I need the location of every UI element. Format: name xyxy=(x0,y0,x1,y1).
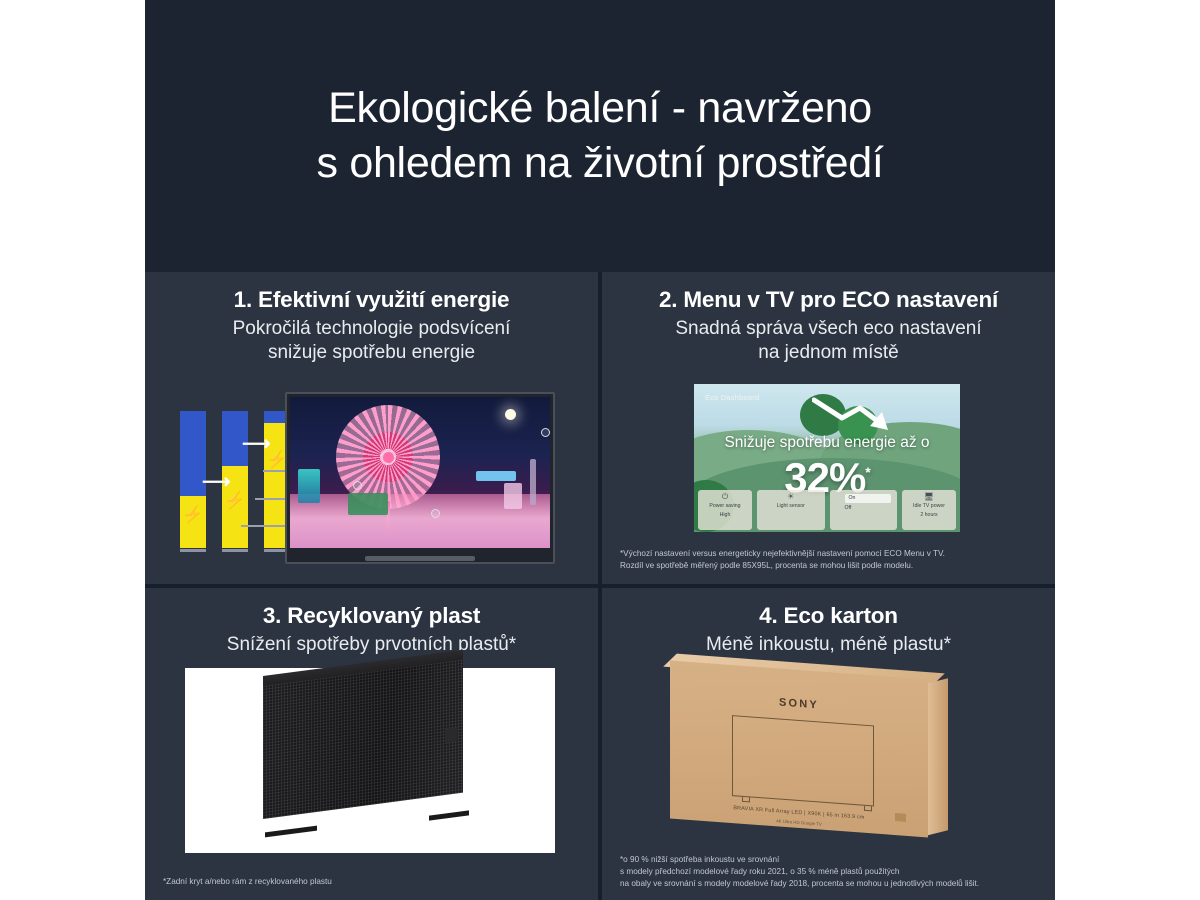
footnote-line1: *Zadní kryt a/nebo rám z recyklovaného p… xyxy=(163,876,584,888)
feature-footnote: *o 90 % nižší spotřeba inkoustu ve srovn… xyxy=(620,854,1041,890)
carton-tv-leg-right xyxy=(864,806,872,812)
tv-rear-photo xyxy=(185,668,555,853)
radio-group[interactable]: On Off xyxy=(832,494,896,513)
arrow-right-icon: ⟶ xyxy=(202,472,231,492)
tv-rear-body xyxy=(263,676,473,836)
arrow-right-icon: ⟶ xyxy=(242,434,271,454)
eco-card-label: Light sensor xyxy=(759,502,823,511)
feature-subtitle: Pokročilá technologie podsvícení snižuje… xyxy=(161,317,582,366)
page-title: Ekologické balení - navrženo s ohledem n… xyxy=(169,81,1031,191)
feature-subtitle-line2: na jednom místě xyxy=(758,342,898,363)
carton-side-face xyxy=(926,678,948,835)
feature-title: 4. Eco karton xyxy=(618,602,1039,629)
energy-illustration: ⚡ ⚡ xyxy=(145,392,598,572)
footnote-line2: Rozdíl ve spotřebě měřený podle 85X95L, … xyxy=(620,560,1041,572)
eco-settings-row: ⏻ Power saving High ☀ Light sensor On Of… xyxy=(698,488,956,530)
feature-subtitle-line1: Méně inkoustu, méně plastu* xyxy=(706,634,951,655)
eco-card-label: Power saving xyxy=(700,502,750,511)
feature-grid: 1. Efektivní využití energie Pokročilá t… xyxy=(145,272,1055,900)
feature-subtitle-line1: Snadná správa všech eco nastavení xyxy=(675,318,981,339)
radio-option-on[interactable]: On xyxy=(845,494,892,503)
feature-subtitle: Snížení spotřeby prvotních plastů* xyxy=(161,633,582,657)
lightning-bolt-icon: ⚡ xyxy=(224,492,245,509)
eco-dashboard-label: Eco Dashboard xyxy=(705,393,759,402)
eco-dashboard-illustration: Eco Dashboard Snižuje spotřebu energie a… xyxy=(694,384,960,532)
eco-card-value: High xyxy=(700,511,750,520)
feature-hotspot-icon[interactable] xyxy=(353,481,362,490)
footnote-line3: na obaly ve srovnání s modely modelové ř… xyxy=(620,878,1041,890)
feature-hotspot-icon[interactable] xyxy=(541,428,550,437)
feature-subtitle: Snadná správa všech eco nastavení na jed… xyxy=(618,317,1039,366)
tv-stand-leg-right xyxy=(429,810,469,820)
eco-card-label: Idle TV power xyxy=(904,502,954,511)
moon-icon xyxy=(505,409,516,420)
power-icon: ⏻ xyxy=(700,493,750,502)
feature-subtitle-line1: Snížení spotřeby prvotních plastů* xyxy=(227,634,516,655)
tv-rear-port xyxy=(445,727,457,743)
infographic-page: Ekologické balení - navrženo s ohledem n… xyxy=(0,0,1200,900)
bar-base xyxy=(222,549,248,552)
lightning-bolt-icon: ⚡ xyxy=(182,506,203,523)
city-light xyxy=(476,471,516,481)
feature-card-recycled-plastic: 3. Recyklovaný plast Snížení spotřeby pr… xyxy=(145,588,598,900)
feature-card-eco-menu: 2. Menu v TV pro ECO nastavení Snadná sp… xyxy=(602,272,1055,584)
tv-preview xyxy=(285,392,555,564)
carton-illustration: SONY BRAVIA XR Full Array LED | X90K | 6… xyxy=(660,662,1000,842)
city-light xyxy=(348,493,388,515)
eco-value-asterisk: * xyxy=(865,464,869,480)
display-icon: 🖥 xyxy=(904,493,954,502)
eco-card-options[interactable]: On Off xyxy=(830,490,898,530)
feature-hotspot-icon[interactable] xyxy=(431,509,440,518)
energy-bar-chart: ⚡ ⚡ xyxy=(178,404,296,552)
feature-title: 2. Menu v TV pro ECO nastavení xyxy=(618,286,1039,313)
eco-card-value: 2 hours xyxy=(904,511,954,520)
feature-card-eco-carton: 4. Eco karton Méně inkoustu, méně plastu… xyxy=(602,588,1055,900)
city-light xyxy=(504,483,522,509)
bar-segment-yellow: ⚡ xyxy=(180,496,206,548)
footnote-line2: s modely předchozí modelové řady roku 20… xyxy=(620,866,1041,878)
city-light xyxy=(530,459,536,505)
feature-footnote: *Výchozí nastavení versus energeticky ne… xyxy=(620,548,1041,572)
feature-title: 1. Efektivní využití energie xyxy=(161,286,582,313)
tv-stand xyxy=(365,556,475,561)
feature-footnote: *Zadní kryt a/nebo rám z recyklovaného p… xyxy=(163,876,584,888)
hero-header: Ekologické balení - navrženo s ohledem n… xyxy=(145,0,1055,272)
eco-card-power-saving[interactable]: ⏻ Power saving High xyxy=(698,490,752,530)
carton-front-face: SONY BRAVIA XR Full Array LED | X90K | 6… xyxy=(670,661,928,838)
page-title-line1: Ekologické balení - navrženo xyxy=(328,84,872,132)
radio-option-off[interactable]: Off xyxy=(841,504,896,513)
tv-screen-image xyxy=(290,397,550,548)
eco-headline: Snižuje spotřebu energie až o xyxy=(694,434,960,452)
carton-label-tag xyxy=(895,813,906,822)
eco-card-idle-power[interactable]: 🖥 Idle TV power 2 hours xyxy=(902,490,956,530)
carton-tv-leg-left xyxy=(742,797,750,803)
carton-tv-outline xyxy=(732,715,874,806)
feature-card-energy: 1. Efektivní využití energie Pokročilá t… xyxy=(145,272,598,584)
tv-stand-leg-left xyxy=(265,826,317,838)
brightness-icon: ☀ xyxy=(759,493,823,502)
page-title-line2: s ohledem na životní prostředí xyxy=(169,136,1031,191)
footnote-line1: *Výchozí nastavení versus energeticky ne… xyxy=(620,548,1041,560)
feature-subtitle-line2: snižuje spotřebu energie xyxy=(268,342,475,363)
feature-title: 3. Recyklovaný plast xyxy=(161,602,582,629)
eco-card-light-sensor[interactable]: ☀ Light sensor xyxy=(757,490,825,530)
sony-logo: SONY xyxy=(670,689,928,720)
downward-trend-arrow-icon xyxy=(812,394,904,438)
footnote-line1: *o 90 % nižší spotřeba inkoustu ve srovn… xyxy=(620,854,1041,866)
infographic-board: Ekologické balení - navrženo s ohledem n… xyxy=(145,0,1055,900)
feature-subtitle-line1: Pokročilá technologie podsvícení xyxy=(233,318,511,339)
bar-base xyxy=(180,549,206,552)
tv-rear-mesh-panel xyxy=(263,660,463,819)
city-light xyxy=(298,469,320,503)
